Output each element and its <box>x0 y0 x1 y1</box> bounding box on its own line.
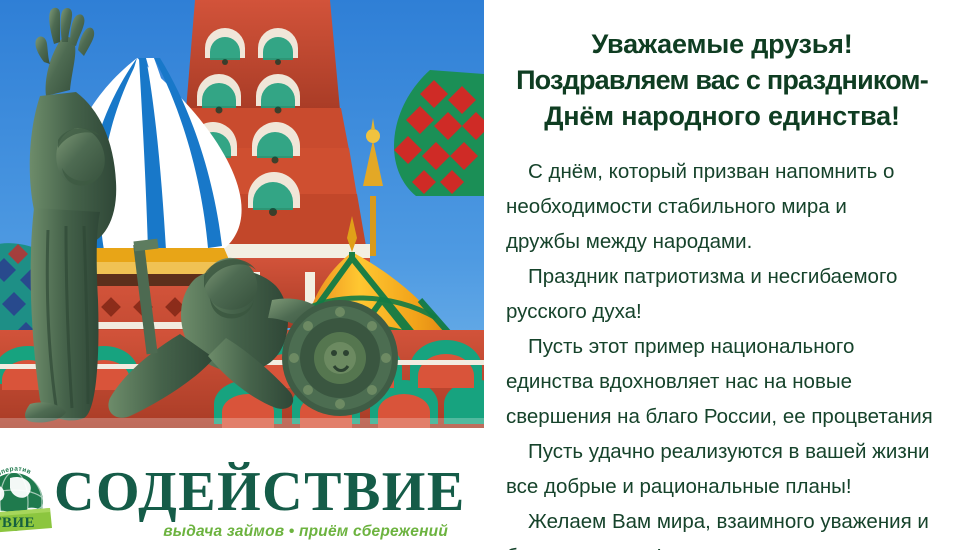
body-line: все добрые и рациональные планы! <box>506 469 960 504</box>
emblem-ribbon-text: СТВИЕ <box>0 515 35 531</box>
headline-line-3: Днём народного единства! <box>488 98 956 134</box>
greeting-card: Уважаемые друзья! Поздравляем вас с праз… <box>0 0 960 550</box>
paragraph-4: Пусть удачно реализуются в вашей жизни в… <box>506 434 960 504</box>
body-line: С днём, который призван напомнить о <box>506 154 960 189</box>
paragraph-5: Желаем Вам мира, взаимного уважения и бл… <box>506 504 960 550</box>
body-line: Пусть удачно реализуются в вашей жизни <box>506 434 960 469</box>
round-shield <box>282 300 398 416</box>
paragraph-1: С днём, который призван напомнить о необ… <box>506 154 960 259</box>
headline-line-2: Поздравляем вас с праздником- <box>488 62 956 98</box>
body-line: единства вдохновляет нас на новые <box>506 364 960 399</box>
company-logo[interactable]: ский кооператив СТВИЕ СОДЕЙСТВИЕ выдача … <box>0 452 460 550</box>
body-line: русского духа! <box>506 294 960 329</box>
body-line: необходимости стабильного мира и <box>506 189 960 224</box>
body-line: Желаем Вам мира, взаимного уважения и <box>506 504 960 539</box>
brand-tagline: выдача займов • приём сбережений <box>54 520 454 541</box>
body-line: Праздник патриотизма и несгибаемого <box>506 259 960 294</box>
brand-name: СОДЕЙСТВИЕ <box>54 464 454 520</box>
globe-emblem-icon: ский кооператив СТВИЕ <box>0 452 56 548</box>
body-line: дружбы между народами. <box>506 224 960 259</box>
paragraph-2: Праздник патриотизма и несгибаемого русс… <box>506 259 960 329</box>
saint-basils-cathedral-photo <box>0 0 484 428</box>
brand-wordmark: СОДЕЙСТВИЕ выдача займов • приём сбереже… <box>54 464 454 541</box>
photo-illustration <box>0 0 484 428</box>
body-line: Пусть этот пример национального <box>506 329 960 364</box>
greeting-body: С днём, который призван напомнить о необ… <box>484 134 960 550</box>
globe-emblem-svg: ский кооператив СТВИЕ <box>0 452 56 548</box>
page-title: Уважаемые друзья! Поздравляем вас с праз… <box>484 0 960 134</box>
body-line: благосостояния! <box>506 539 960 550</box>
body-line: свершения на благо России, ее процветани… <box>506 399 960 434</box>
greeting-text-panel: Уважаемые друзья! Поздравляем вас с праз… <box>484 0 960 550</box>
paragraph-3: Пусть этот пример национального единства… <box>506 329 960 434</box>
headline-line-1: Уважаемые друзья! <box>488 26 956 62</box>
